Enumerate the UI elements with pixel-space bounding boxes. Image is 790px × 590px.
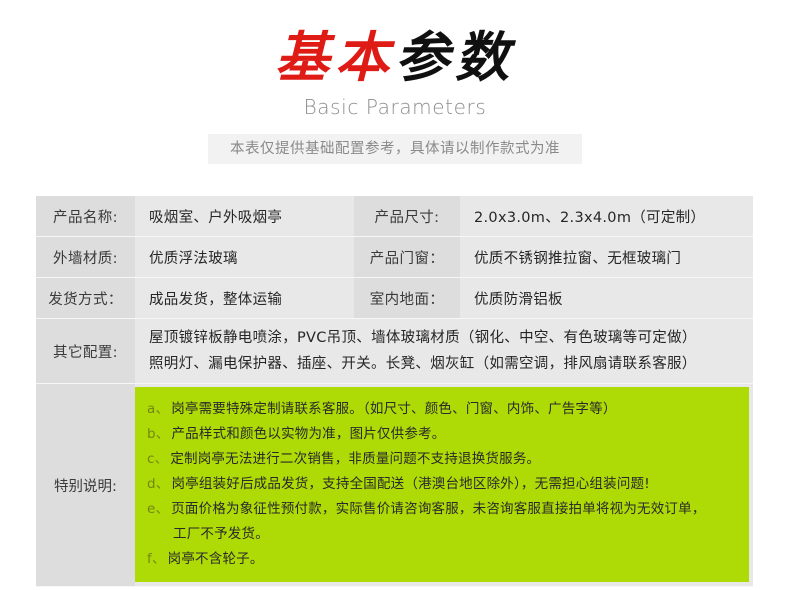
row-value-special-notes: a、岗亭需要特殊定制请联系客服。（如尺寸、颜色、门窗、内饰、广告字等） b、产品… — [135, 384, 753, 587]
row-label-other-config: 其它配置: — [36, 319, 135, 384]
special-note-text: 产品样式和颜色以实物为准，图片仅供参考。 — [171, 426, 445, 442]
note-bar-wrapper: 本表仅提供基础配置参考，具体请以制作款式为准 — [0, 134, 790, 164]
spec-table: 产品名称: 吸烟室、户外吸烟亭 产品尺寸: 2.0x3.0m、2.3x4.0m（… — [36, 196, 753, 587]
special-note-bullet: b、 — [147, 426, 169, 442]
row-label-product-name: 产品名称: — [36, 196, 135, 237]
special-note-text: 岗亭不含轮子。 — [168, 551, 264, 567]
special-note-item: a、岗亭需要特殊定制请联系客服。（如尺寸、颜色、门窗、内饰、广告字等） — [147, 397, 739, 422]
table-row: 产品名称: 吸烟室、户外吸烟亭 产品尺寸: 2.0x3.0m、2.3x4.0m（… — [36, 196, 753, 237]
special-notes-box: a、岗亭需要特殊定制请联系客服。（如尺寸、颜色、门窗、内饰、广告字等） b、产品… — [135, 387, 749, 582]
table-row: 外墙材质: 优质浮法玻璃 产品门窗： 优质不锈钢推拉窗、无框玻璃门 — [36, 237, 753, 278]
special-note-bullet: d、 — [147, 476, 169, 492]
table-row-other-config: 其它配置: 屋顶镀锌板静电喷涂，PVC吊顶、墙体玻璃材质（钢化、中空、有色玻璃等… — [36, 319, 753, 384]
table-row: 发货方式： 成品发货，整体运输 室内地面： 优质防滑铝板 — [36, 278, 753, 319]
special-note-item: f、岗亭不含轮子。 — [147, 547, 739, 572]
header-note: 本表仅提供基础配置参考，具体请以制作款式为准 — [208, 134, 582, 164]
page-subtitle-en: Basic Parameters — [0, 94, 790, 120]
special-note-text: 工厂不予发货。 — [173, 526, 269, 542]
special-note-text: 页面价格为象征性预付款，实际售价请咨询客服，未咨询客服直接拍单将视为无效订单， — [171, 501, 705, 517]
row-value-doors-windows: 优质不锈钢推拉窗、无框玻璃门 — [460, 237, 753, 278]
special-note-item: e、页面价格为象征性预付款，实际售价请咨询客服，未咨询客服直接拍单将视为无效订单… — [147, 497, 739, 522]
row-value-product-name: 吸烟室、户外吸烟亭 — [135, 196, 354, 237]
special-note-bullet: c、 — [147, 451, 168, 467]
special-note-item-continuation: 工厂不予发货。 — [147, 522, 739, 547]
other-config-line-1: 屋顶镀锌板静电喷涂，PVC吊顶、墙体玻璃材质（钢化、中空、有色玻璃等可定做） — [149, 325, 747, 351]
row-value-indoor-floor: 优质防滑铝板 — [460, 278, 753, 319]
page-title: 基本参数 — [0, 26, 790, 88]
special-note-bullet: f、 — [147, 551, 166, 567]
special-note-item: c、定制岗亭无法进行二次销售，非质量问题不支持退换货服务。 — [147, 447, 739, 472]
spec-table-body: 产品名称: 吸烟室、户外吸烟亭 产品尺寸: 2.0x3.0m、2.3x4.0m（… — [36, 196, 753, 587]
row-value-shipping-method: 成品发货，整体运输 — [135, 278, 354, 319]
other-config-line-2: 照明灯、漏电保护器、插座、开关。长凳、烟灰缸（如需空调，排风扇请联系客服） — [149, 351, 747, 377]
row-label-indoor-floor: 室内地面： — [354, 278, 460, 319]
row-label-wall-material: 外墙材质: — [36, 237, 135, 278]
special-note-item: b、产品样式和颜色以实物为准，图片仅供参考。 — [147, 422, 739, 447]
table-row-special-notes: 特别说明: a、岗亭需要特殊定制请联系客服。（如尺寸、颜色、门窗、内饰、广告字等… — [36, 384, 753, 587]
row-value-other-config: 屋顶镀锌板静电喷涂，PVC吊顶、墙体玻璃材质（钢化、中空、有色玻璃等可定做） 照… — [135, 319, 753, 384]
row-value-product-size: 2.0x3.0m、2.3x4.0m（可定制） — [460, 196, 753, 237]
row-label-special-notes: 特别说明: — [36, 384, 135, 587]
special-note-bullet: a、 — [147, 401, 169, 417]
special-note-text: 岗亭组装好后成品发货，支持全国配送（港澳台地区除外），无需担心组装问题! — [171, 476, 649, 492]
row-label-product-size: 产品尺寸: — [354, 196, 460, 237]
page-title-cn-black: 参数 — [395, 25, 515, 89]
page-header: 基本参数 Basic Parameters 本表仅提供基础配置参考，具体请以制作… — [0, 0, 790, 164]
special-note-text: 岗亭需要特殊定制请联系客服。（如尺寸、颜色、门窗、内饰、广告字等） — [171, 401, 616, 417]
special-note-text: 定制岗亭无法进行二次销售，非质量问题不支持退换货服务。 — [170, 451, 540, 467]
special-note-bullet: e、 — [147, 501, 169, 517]
special-note-item: d、岗亭组装好后成品发货，支持全国配送（港澳台地区除外），无需担心组装问题! — [147, 472, 739, 497]
row-label-shipping-method: 发货方式： — [36, 278, 135, 319]
row-value-wall-material: 优质浮法玻璃 — [135, 237, 354, 278]
page-title-cn-red: 基本 — [275, 25, 395, 89]
row-label-doors-windows: 产品门窗： — [354, 237, 460, 278]
